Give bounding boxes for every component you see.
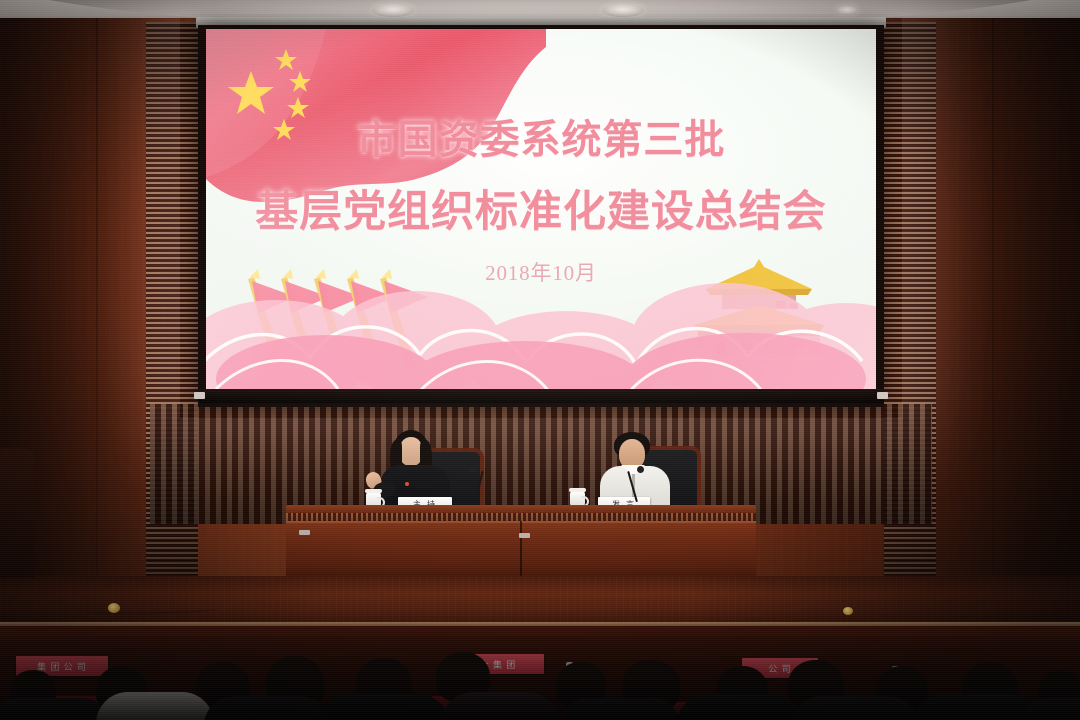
head [619, 439, 645, 469]
microphone-head-icon [470, 466, 477, 473]
slide-title-line-2: 基层党组织标准化建设总结会 [206, 177, 876, 239]
cloud-decoration [206, 243, 876, 393]
audience-shoulders [560, 698, 680, 720]
cable-connector [843, 607, 853, 615]
lapel-pin-icon [405, 482, 409, 486]
audience-shoulders [96, 692, 214, 720]
audience-shoulders [0, 698, 110, 720]
head-table-seam [520, 521, 522, 583]
stage-shading [0, 576, 1080, 626]
audience-shoulders [204, 696, 330, 720]
microphone-head-icon [637, 466, 644, 473]
downlight-icon [372, 4, 414, 17]
table-fitting [519, 533, 530, 538]
table-fitting [299, 530, 310, 535]
presentation-slide: 市国资委系统第三批 基层党组织标准化建设总结会 2018年10月 [206, 29, 876, 393]
projection-screen: 市国资委系统第三批 基层党组织标准化建设总结会 2018年10月 [206, 29, 876, 393]
downlight-icon [602, 4, 644, 17]
tea-cup-lid [365, 489, 382, 493]
tea-cup-lid [569, 488, 586, 492]
slide-title: 市国资委系统第三批 基层党组织标准化建设总结会 [206, 107, 876, 239]
loudspeaker-cabinet [0, 448, 34, 578]
audience-shoulders [440, 692, 560, 720]
downlight-icon [836, 6, 858, 15]
audience-shoulders [320, 694, 450, 720]
cable-connector [108, 603, 120, 613]
audience-rows: 集 团 公 司 大 集 团 公 司 [0, 636, 1080, 720]
conference-hall-photo: 市国资委系统第三批 基层党组织标准化建设总结会 2018年10月 [0, 0, 1080, 720]
slide-title-line-1: 市国资委系统第三批 [206, 107, 876, 165]
audience-shoulders [792, 696, 918, 720]
stage-front-face [0, 576, 1080, 626]
audience-shoulders [676, 694, 802, 720]
projection-screen-bottom-bar [198, 389, 884, 403]
